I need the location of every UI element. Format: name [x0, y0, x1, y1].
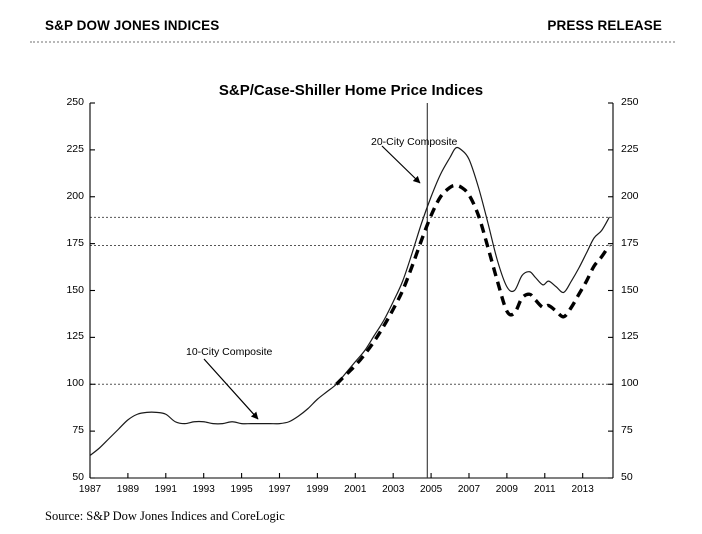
y-axis-label-right-200: 200: [621, 190, 651, 202]
x-axis-label-1991: 1991: [146, 484, 186, 495]
y-axis-label-right-75: 75: [621, 424, 651, 436]
y-axis-label-right-100: 100: [621, 377, 651, 389]
press-release-page: S&P DOW JONES INDICES PRESS RELEASE S&P/…: [0, 0, 702, 534]
header-right-label: PRESS RELEASE: [547, 18, 662, 33]
series-line-10-city: [90, 147, 609, 455]
chart-plot-area: 5075100125150175200225250 50751001251501…: [90, 103, 613, 478]
y-axis-label-left-125: 125: [54, 330, 84, 342]
x-axis-label-2005: 2005: [411, 484, 451, 495]
y-axis-label-right-175: 175: [621, 237, 651, 249]
y-axis-label-right-125: 125: [621, 330, 651, 342]
x-axis-label-1999: 1999: [297, 484, 337, 495]
y-axis-label-left-200: 200: [54, 190, 84, 202]
y-axis-label-left-100: 100: [54, 377, 84, 389]
y-axis-label-left-50: 50: [54, 471, 84, 483]
x-axis-label-1995: 1995: [222, 484, 262, 495]
page-header: S&P DOW JONES INDICES PRESS RELEASE: [0, 18, 702, 40]
source-note: Source: S&P Dow Jones Indices and CoreLo…: [45, 509, 285, 524]
x-axis-label-1993: 1993: [184, 484, 224, 495]
annotation-10-city-composite: 10-City Composite: [186, 346, 272, 358]
chart-title: S&P/Case-Shiller Home Price Indices: [0, 82, 702, 99]
y-axis-label-left-225: 225: [54, 143, 84, 155]
series-line-20-city: [336, 186, 609, 385]
x-axis-label-2013: 2013: [563, 484, 603, 495]
header-divider: [30, 41, 675, 43]
chart-svg: [90, 103, 613, 478]
y-axis-label-right-50: 50: [621, 471, 651, 483]
y-axis-label-left-250: 250: [54, 96, 84, 108]
annotation-20-city-composite: 20-City Composite: [371, 136, 457, 148]
x-axis-label-2001: 2001: [335, 484, 375, 495]
x-axis-label-2009: 2009: [487, 484, 527, 495]
annotation-arrows-group: [204, 146, 420, 419]
arrow-20-city: [382, 146, 420, 183]
x-axis-label-2007: 2007: [449, 484, 489, 495]
x-axis-label-1987: 1987: [70, 484, 110, 495]
arrow-10-city: [204, 359, 258, 419]
reference-lines-group: [90, 217, 613, 384]
y-axis-label-right-225: 225: [621, 143, 651, 155]
x-axis-label-1989: 1989: [108, 484, 148, 495]
y-axis-label-left-75: 75: [54, 424, 84, 436]
y-axis-label-left-150: 150: [54, 284, 84, 296]
y-axis-label-left-175: 175: [54, 237, 84, 249]
x-axis-label-1997: 1997: [259, 484, 299, 495]
x-axis-label-2003: 2003: [373, 484, 413, 495]
x-axis-label-2011: 2011: [525, 484, 565, 495]
axes-group: [90, 103, 613, 478]
header-left-title: S&P DOW JONES INDICES: [45, 18, 219, 33]
y-axis-label-right-150: 150: [621, 284, 651, 296]
y-axis-label-right-250: 250: [621, 96, 651, 108]
